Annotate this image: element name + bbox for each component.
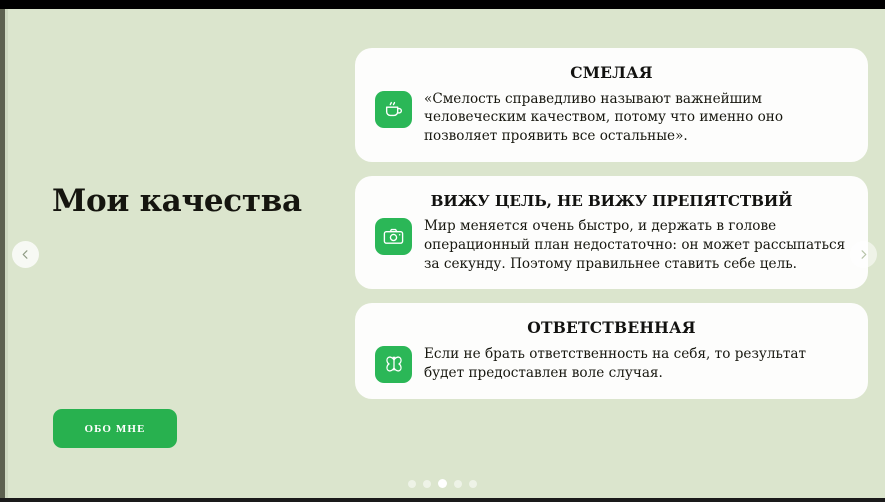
- card-title: ОТВЕТСТВЕННАЯ: [375, 319, 848, 338]
- page-title: Мои качества: [52, 184, 352, 218]
- card-title: СМЕЛАЯ: [375, 64, 848, 83]
- quality-card-vizhu-tsel[interactable]: ВИЖУ ЦЕЛЬ, НЕ ВИЖУ ПРЕПЯТСТВИЙ Мир меняе…: [355, 176, 868, 289]
- chevron-right-icon: [858, 249, 869, 260]
- cup-icon: [375, 91, 412, 128]
- carousel-prev-button[interactable]: [12, 241, 39, 268]
- card-title: ВИЖУ ЦЕЛЬ, НЕ ВИЖУ ПРЕПЯТСТВИЙ: [375, 192, 848, 210]
- card-text: «Смелость справедливо называют важнейшим…: [424, 89, 848, 146]
- chevron-left-icon: [20, 249, 31, 260]
- left-column: Мои качества ОБО МНЕ: [52, 9, 352, 498]
- carousel-pagination: [0, 479, 885, 488]
- carousel-next-button[interactable]: [850, 241, 877, 268]
- page-viewport: Мои качества ОБО МНЕ СМЕЛАЯ «Смелость сп…: [0, 0, 885, 502]
- qualities-card-list: СМЕЛАЯ «Смелость справедливо называют ва…: [355, 48, 868, 413]
- left-dark-edge: [0, 9, 5, 498]
- card-body: «Смелость справедливо называют важнейшим…: [375, 89, 848, 146]
- carousel-dot-3[interactable]: [438, 479, 447, 488]
- left-inner-edge: [5, 9, 8, 498]
- carousel-dot-4[interactable]: [454, 480, 462, 488]
- carousel-dot-5[interactable]: [469, 480, 477, 488]
- bottom-dark-band: [0, 498, 885, 502]
- card-text: Мир меняется очень быстро, и держать в г…: [424, 216, 848, 273]
- card-body: Если не брать ответственность на себя, т…: [375, 344, 848, 383]
- about-me-button[interactable]: ОБО МНЕ: [53, 409, 177, 448]
- card-text: Если не брать ответственность на себя, т…: [424, 344, 848, 383]
- camera-icon: [375, 218, 412, 255]
- butterfly-icon: [375, 346, 412, 383]
- quality-card-otvetstvennaya[interactable]: ОТВЕТСТВЕННАЯ Если не брать ответственно…: [355, 303, 868, 399]
- quality-card-smelaya[interactable]: СМЕЛАЯ «Смелость справедливо называют ва…: [355, 48, 868, 162]
- card-body: Мир меняется очень быстро, и держать в г…: [375, 216, 848, 273]
- top-black-band: [0, 0, 885, 9]
- carousel-dot-2[interactable]: [423, 480, 431, 488]
- carousel-dot-1[interactable]: [408, 480, 416, 488]
